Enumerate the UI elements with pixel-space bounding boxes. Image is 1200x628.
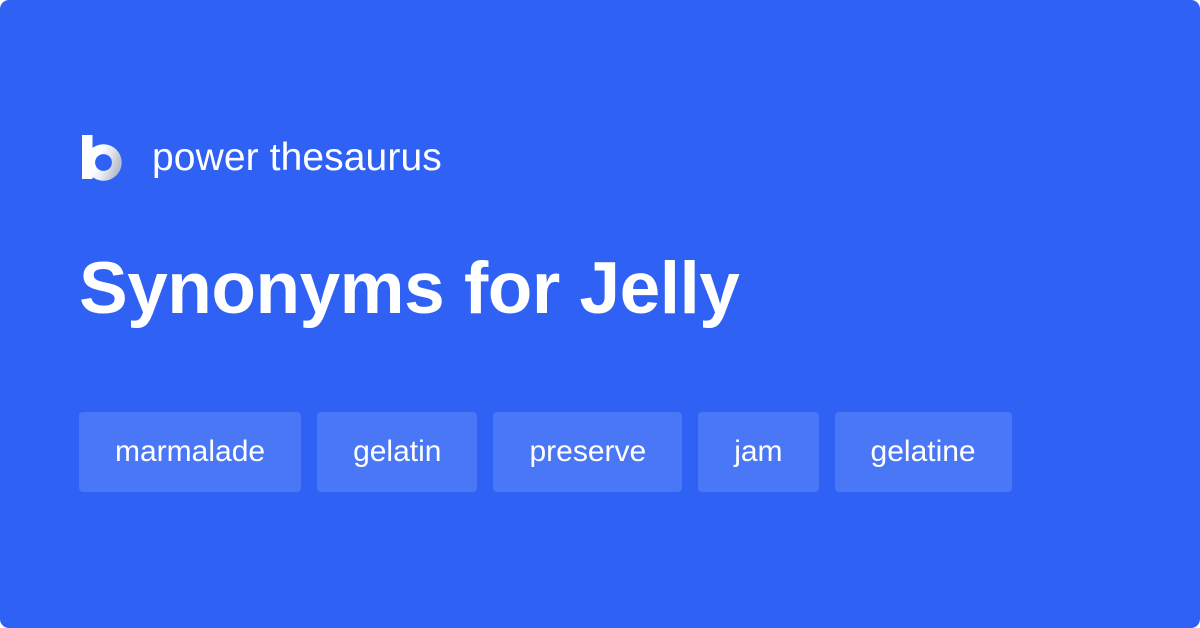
synonym-chip[interactable]: gelatin [317, 412, 477, 492]
synonym-chip[interactable]: jam [698, 412, 818, 492]
brand-name: power thesaurus [152, 138, 442, 177]
synonym-chip[interactable]: marmalade [79, 412, 301, 492]
brand-header[interactable]: power thesaurus [79, 128, 442, 186]
power-thesaurus-logo-icon [79, 131, 123, 183]
synonym-chip[interactable]: preserve [493, 412, 682, 492]
thesaurus-share-card: power thesaurus Synonyms for Jelly marma… [0, 0, 1200, 628]
page-title: Synonyms for Jelly [79, 249, 739, 329]
synonym-chip[interactable]: gelatine [835, 412, 1012, 492]
synonym-chip-list: marmalade gelatin preserve jam gelatine [79, 412, 1012, 492]
